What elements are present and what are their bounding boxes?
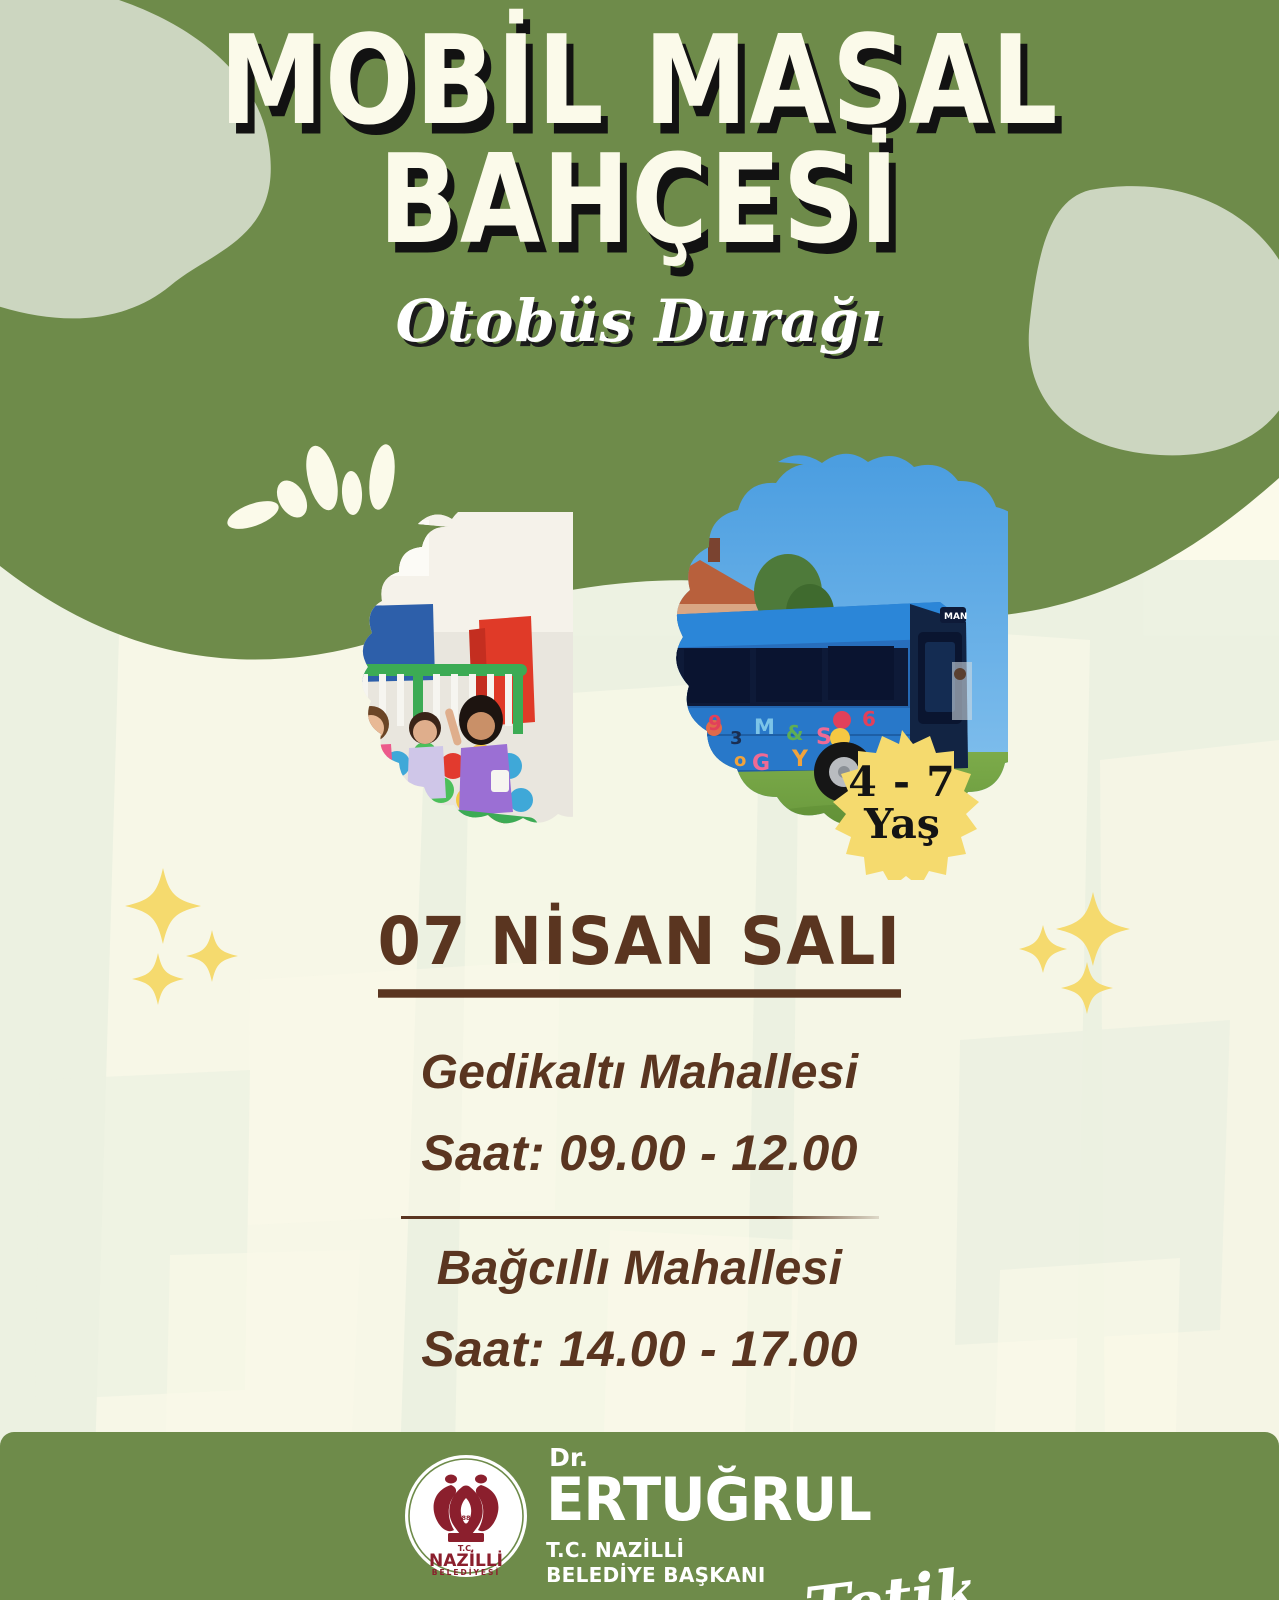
age-badge: 4 - 7 Yaş: [824, 728, 980, 880]
poster-root: MOBİL MASAL BAHÇESİ Otobüs Durağı: [0, 0, 1279, 1600]
svg-text:o: o: [734, 750, 746, 771]
age-unit: Yaş: [848, 804, 956, 846]
poster-subtitle: Otobüs Durağı: [0, 287, 1279, 355]
svg-text:MAN: MAN: [944, 612, 967, 622]
event-info: 07 NİSAN SALI Gedikaltı Mahallesi Saat: …: [0, 905, 1279, 1378]
session-1-time: Saat: 09.00 - 12.00: [0, 1124, 1279, 1182]
child-1: [292, 686, 341, 802]
session-1-location: Gedikaltı Mahallesi: [0, 1045, 1279, 1100]
session-2-location: Bağcıllı Mahallesi: [0, 1241, 1279, 1296]
mayor-signature-block: Dr. ERTUĞRUL T.C. NAZİLLİ BELEDİYE BAŞKA…: [546, 1445, 871, 1588]
logo-year: 1881: [457, 1514, 476, 1522]
nazilli-municipality-logo: 1881 T.C. NAZİLLİ BELEDİYESİ: [404, 1454, 528, 1578]
svg-text:G: G: [752, 751, 770, 776]
footer-bar: 1881 T.C. NAZİLLİ BELEDİYESİ Dr. ERTUĞRU…: [0, 1432, 1279, 1600]
svg-text:9: 9: [708, 711, 722, 735]
age-range: 4 - 7: [848, 762, 956, 804]
age-badge-text: 4 - 7 Yaş: [848, 762, 956, 846]
photo-ball-pit: [263, 512, 573, 842]
mayor-name: ERTUĞRUL: [546, 1471, 871, 1530]
poster-title-line2: BAHÇESİ: [0, 143, 1279, 257]
poster-header: MOBİL MASAL BAHÇESİ Otobüs Durağı: [0, 24, 1279, 355]
mayor-role-line1: T.C. NAZİLLİ: [546, 1538, 871, 1563]
svg-text:3: 3: [730, 728, 743, 749]
svg-text:&: &: [786, 721, 803, 745]
event-date-wrap: 07 NİSAN SALI: [0, 905, 1279, 995]
event-date: 07 NİSAN SALI: [378, 902, 902, 997]
svg-text:Y: Y: [791, 747, 809, 772]
session-divider: [401, 1216, 879, 1219]
poster-title-line1: MOBİL MASAL: [0, 24, 1279, 138]
logo-org: BELEDİYESİ: [432, 1568, 501, 1577]
child-2: [341, 702, 395, 806]
svg-text:M: M: [754, 715, 775, 739]
session-2-time: Saat: 14.00 - 17.00: [0, 1320, 1279, 1378]
